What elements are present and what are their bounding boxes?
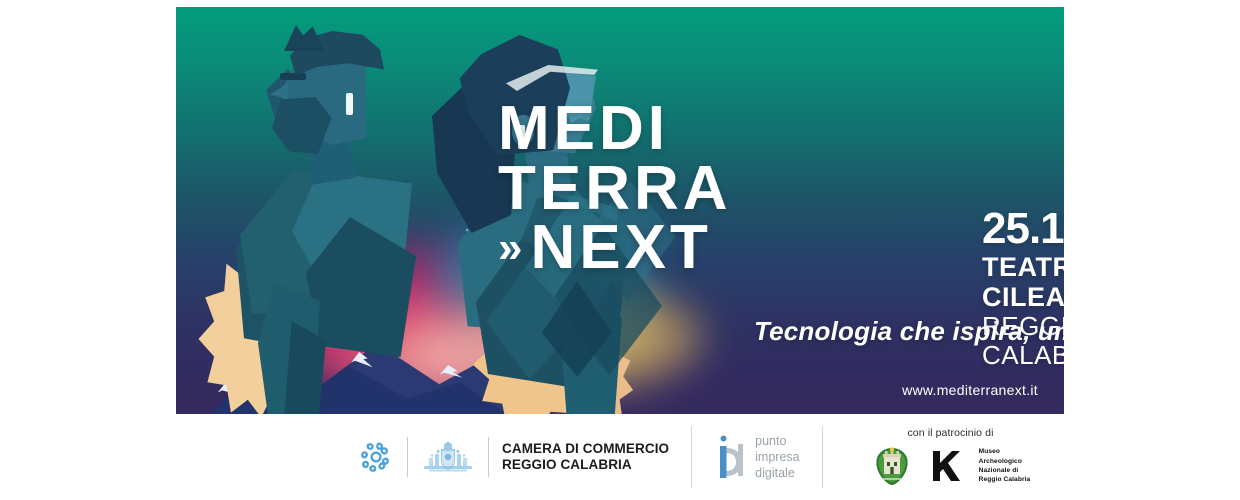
page-root: MEDI TERRA » NEXT 25.11.2025 TEATRO F. C… bbox=[0, 0, 1240, 500]
double-chevron-icon: » bbox=[498, 226, 516, 270]
pid-line-2: impresa bbox=[755, 449, 799, 465]
museum-monogram-icon bbox=[929, 449, 963, 483]
swirl-icon bbox=[358, 439, 394, 475]
logo-divider bbox=[691, 426, 692, 488]
chamber-name-line-1: CAMERA DI COMMERCIO bbox=[502, 441, 669, 457]
event-tagline: Tecnologia che ispira, umanità che innov… bbox=[754, 316, 1064, 347]
pd-monogram-icon bbox=[714, 434, 748, 480]
event-venue: TEATRO F. CILEA bbox=[982, 253, 1064, 312]
event-hero-banner: MEDI TERRA » NEXT 25.11.2025 TEATRO F. C… bbox=[176, 7, 1064, 414]
chamber-name: CAMERA DI COMMERCIO REGGIO CALABRIA bbox=[502, 441, 669, 474]
museum-line-1: Museo bbox=[979, 447, 1031, 456]
city-metropolitan-crest-icon bbox=[871, 445, 913, 487]
earbud-man bbox=[346, 93, 353, 115]
logo-divider bbox=[407, 437, 408, 477]
event-date: 25.11.2025 bbox=[982, 207, 1064, 252]
headline-line-3: NEXT bbox=[530, 218, 711, 278]
museum-line-4: Reggio Calabria bbox=[979, 475, 1031, 484]
chamber-name-line-2: REGGIO CALABRIA bbox=[502, 457, 669, 473]
museum-line-3: Nazionale di bbox=[979, 466, 1031, 475]
headline-line-2: TERRA bbox=[498, 159, 1058, 219]
swirl-logo-group bbox=[358, 439, 394, 475]
headline-line-1: MEDI bbox=[498, 99, 1058, 159]
pid-logo-group: punto impresa digitale bbox=[714, 433, 799, 481]
sponsor-logo-bar: CAMERA DI COMMERCIO REGGIO CALABRIA punt… bbox=[186, 414, 1064, 500]
patronage-label: con il patrocinio di bbox=[907, 427, 993, 439]
logo-divider bbox=[822, 426, 823, 488]
event-headline: MEDI TERRA » NEXT bbox=[498, 99, 1058, 278]
pid-line-1: punto bbox=[755, 433, 799, 449]
website-url[interactable]: www.mediterranext.it bbox=[902, 382, 1038, 398]
pid-line-3: digitale bbox=[755, 465, 799, 481]
patronage-block: con il patrocinio di bbox=[871, 427, 1031, 487]
chamber-crest-group bbox=[421, 440, 475, 474]
museum-line-2: Archeologico bbox=[979, 457, 1031, 466]
chamber-crest-icon bbox=[421, 440, 475, 474]
museum-name: Museo Archeologico Nazionale di Reggio C… bbox=[979, 447, 1031, 484]
pid-name: punto impresa digitale bbox=[755, 433, 799, 481]
logo-divider bbox=[488, 437, 489, 477]
